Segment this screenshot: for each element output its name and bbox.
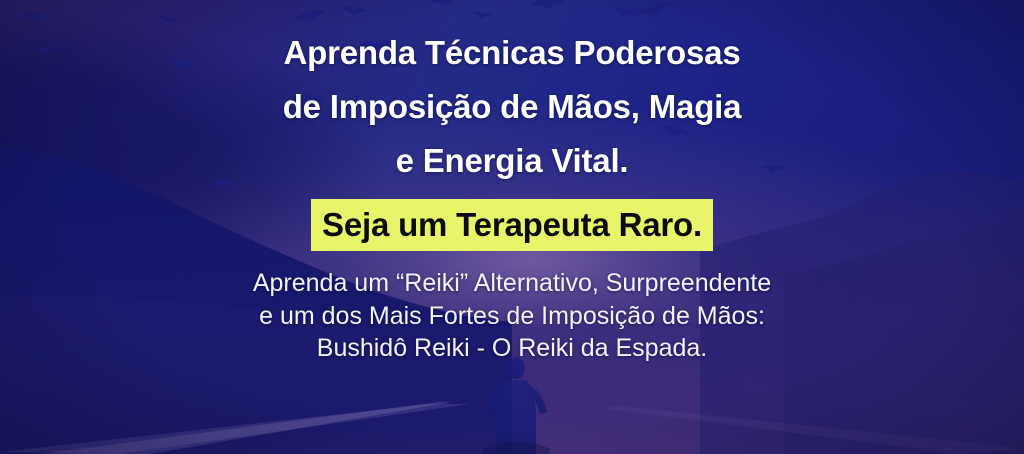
banner-content: Aprenda Técnicas Poderosas de Imposição … [0,0,1024,454]
subheadline-line-2: e um dos Mais Fortes de Imposição de Mão… [253,300,771,333]
headline: Aprenda Técnicas Poderosas de Imposição … [283,36,742,177]
highlighted-tagline: Seja um Terapeuta Raro. [311,199,713,251]
subheadline-line-3: Bushidô Reiki - O Reiki da Espada. [253,332,771,365]
hero-banner: Aprenda Técnicas Poderosas de Imposição … [0,0,1024,454]
subheadline: Aprenda um “Reiki” Alternativo, Surpreen… [253,267,771,365]
highlight-wrapper: Seja um Terapeuta Raro. [311,199,713,251]
headline-line-1: Aprenda Técnicas Poderosas [283,36,742,69]
subheadline-line-1: Aprenda um “Reiki” Alternativo, Surpreen… [253,267,771,300]
headline-line-2: de Imposição de Mãos, Magia [283,90,742,123]
headline-line-3: e Energia Vital. [283,144,742,177]
